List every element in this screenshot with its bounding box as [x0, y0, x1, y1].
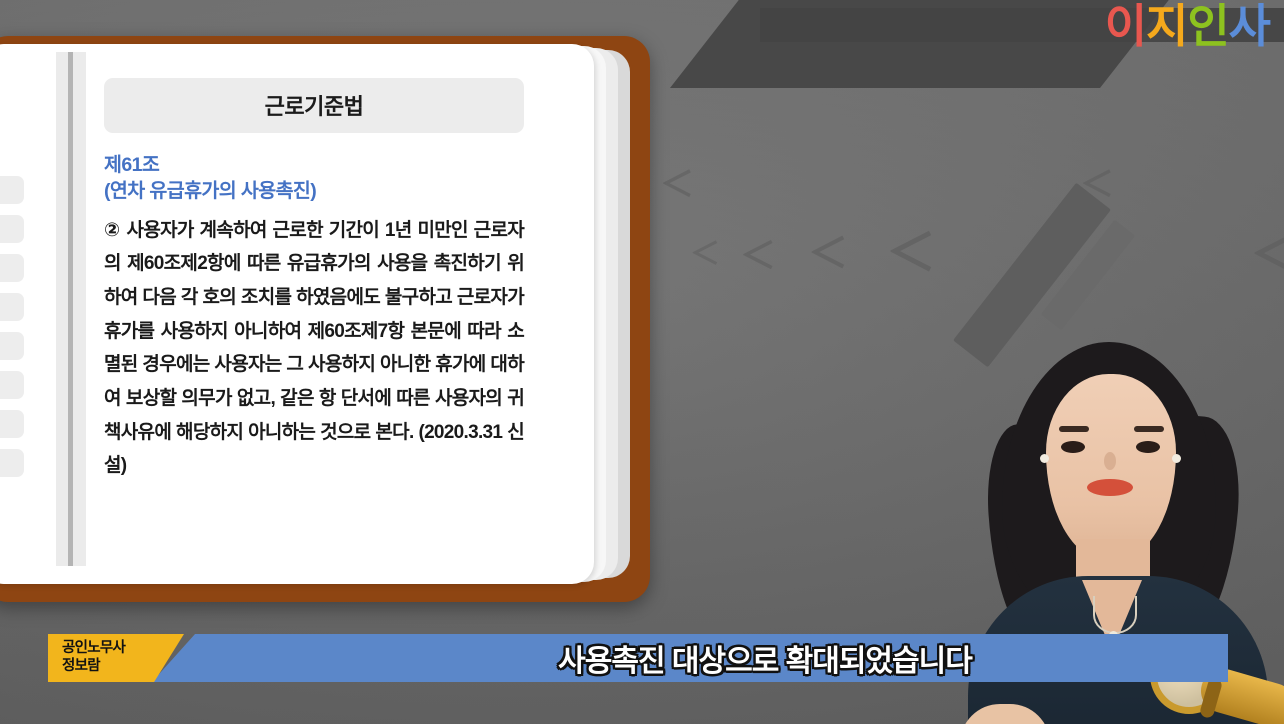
caption-text: 사용촉진 대상으로 확대되었습니다: [558, 636, 972, 680]
law-document-card: 근로기준법 제61조 (연차 유급휴가의 사용촉진) ② 사용자가 계속하여 근…: [0, 36, 650, 602]
binder-tab: [0, 332, 24, 360]
binder-tab: [0, 254, 24, 282]
presenter-necklace-chain: [1093, 596, 1137, 634]
video-frame: ＜＜＜＜＜＜＜ 이지인사 근로기준법 제61조: [0, 0, 1284, 724]
presenter-earring-left: [1040, 454, 1049, 463]
document-content: 근로기준법 제61조 (연차 유급휴가의 사용촉진) ② 사용자가 계속하여 근…: [104, 78, 524, 483]
chevron-icon: ＜: [886, 228, 936, 278]
brand-logo-char: 인: [1187, 2, 1228, 50]
presenter-brow-left: [1059, 426, 1089, 432]
binder-tab: [0, 215, 24, 243]
binder-spine-line: [68, 52, 73, 566]
brand-logo-char: 지: [1146, 2, 1187, 50]
brand-logo-char: 이: [1105, 2, 1146, 50]
binder-tabs: [0, 176, 30, 488]
binder-tab: [0, 410, 24, 438]
presenter-lips: [1087, 479, 1133, 496]
speaker-title: 공인노무사: [62, 640, 184, 658]
binder-tab: [0, 371, 24, 399]
brand-logo-char: 사: [1229, 2, 1270, 50]
presenter-earring-right: [1172, 454, 1181, 463]
binder-tab: [0, 293, 24, 321]
document-title: 근로기준법: [104, 78, 524, 133]
article-number: 제61조: [104, 153, 524, 179]
article-name: (연차 유급휴가의 사용촉진): [104, 179, 524, 205]
chevron-icon: ＜: [660, 168, 694, 202]
binder-tab: [0, 449, 24, 477]
presenter-eye-left: [1061, 441, 1085, 453]
lower-third: 사용촉진 대상으로 확대되었습니다 공인노무사 정보람: [48, 634, 1228, 682]
brand-logo: 이지인사: [1105, 2, 1270, 50]
article-body-text: ② 사용자가 계속하여 근로한 기간이 1년 미만인 근로자의 제60조제2항에…: [104, 214, 524, 483]
chevron-icon: ＜: [808, 234, 848, 274]
chevron-icon: ＜: [1080, 168, 1114, 202]
chevron-icon: ＜: [1250, 230, 1284, 280]
caption-bar: 사용촉진 대상으로 확대되었습니다: [152, 634, 1228, 682]
presenter-nose: [1104, 452, 1116, 470]
binder-tab: [0, 176, 24, 204]
article-heading: 제61조 (연차 유급휴가의 사용촉진): [104, 153, 524, 205]
chevron-icon: ＜: [740, 238, 776, 274]
presenter-eye-right: [1136, 441, 1160, 453]
page-front: 근로기준법 제61조 (연차 유급휴가의 사용촉진) ② 사용자가 계속하여 근…: [0, 44, 594, 584]
presenter-brow-right: [1134, 426, 1164, 432]
chevron-icon: ＜: [690, 240, 720, 270]
